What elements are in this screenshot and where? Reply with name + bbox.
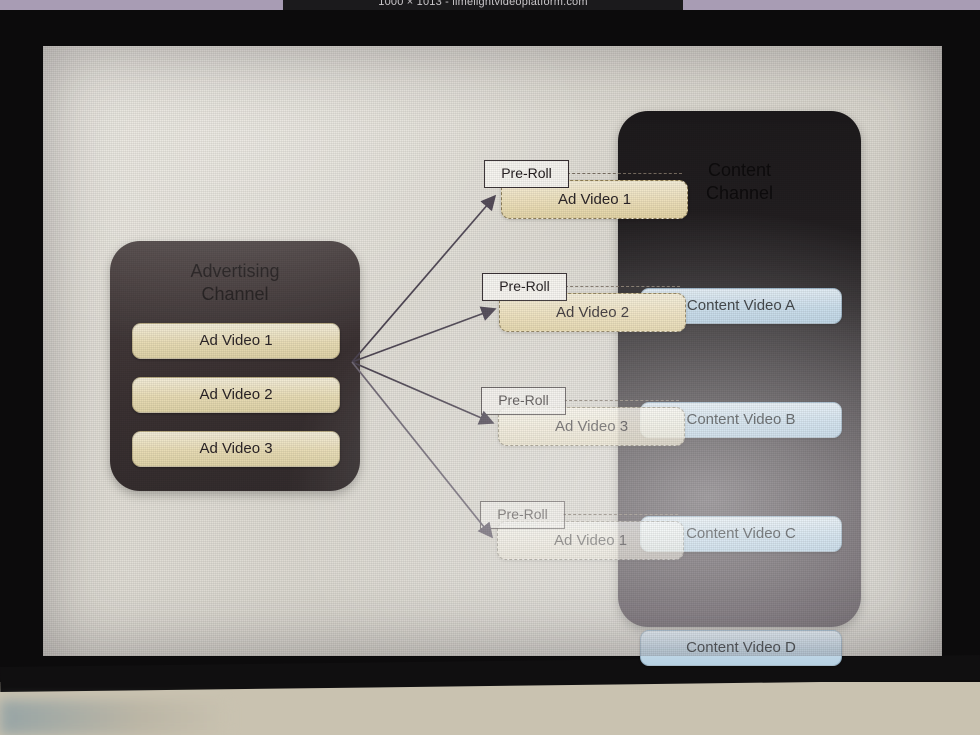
arrow-layer [43,46,942,656]
desk-reflection [0,700,230,735]
diagram-slide: Advertising Channel Ad Video 1 Ad Video … [43,46,942,656]
window-title-text: 1000 × 1013 - limelightvideoplatform.com [378,0,587,8]
arrow-to-preroll-3 [352,362,493,423]
photographed-screen: 1000 × 1013 - limelightvideoplatform.com… [0,0,980,735]
window-title-chip: 1000 × 1013 - limelightvideoplatform.com [283,0,683,10]
arrow-to-preroll-2 [352,309,495,362]
arrow-to-preroll-1 [352,196,495,362]
arrow-to-preroll-4 [352,362,492,537]
